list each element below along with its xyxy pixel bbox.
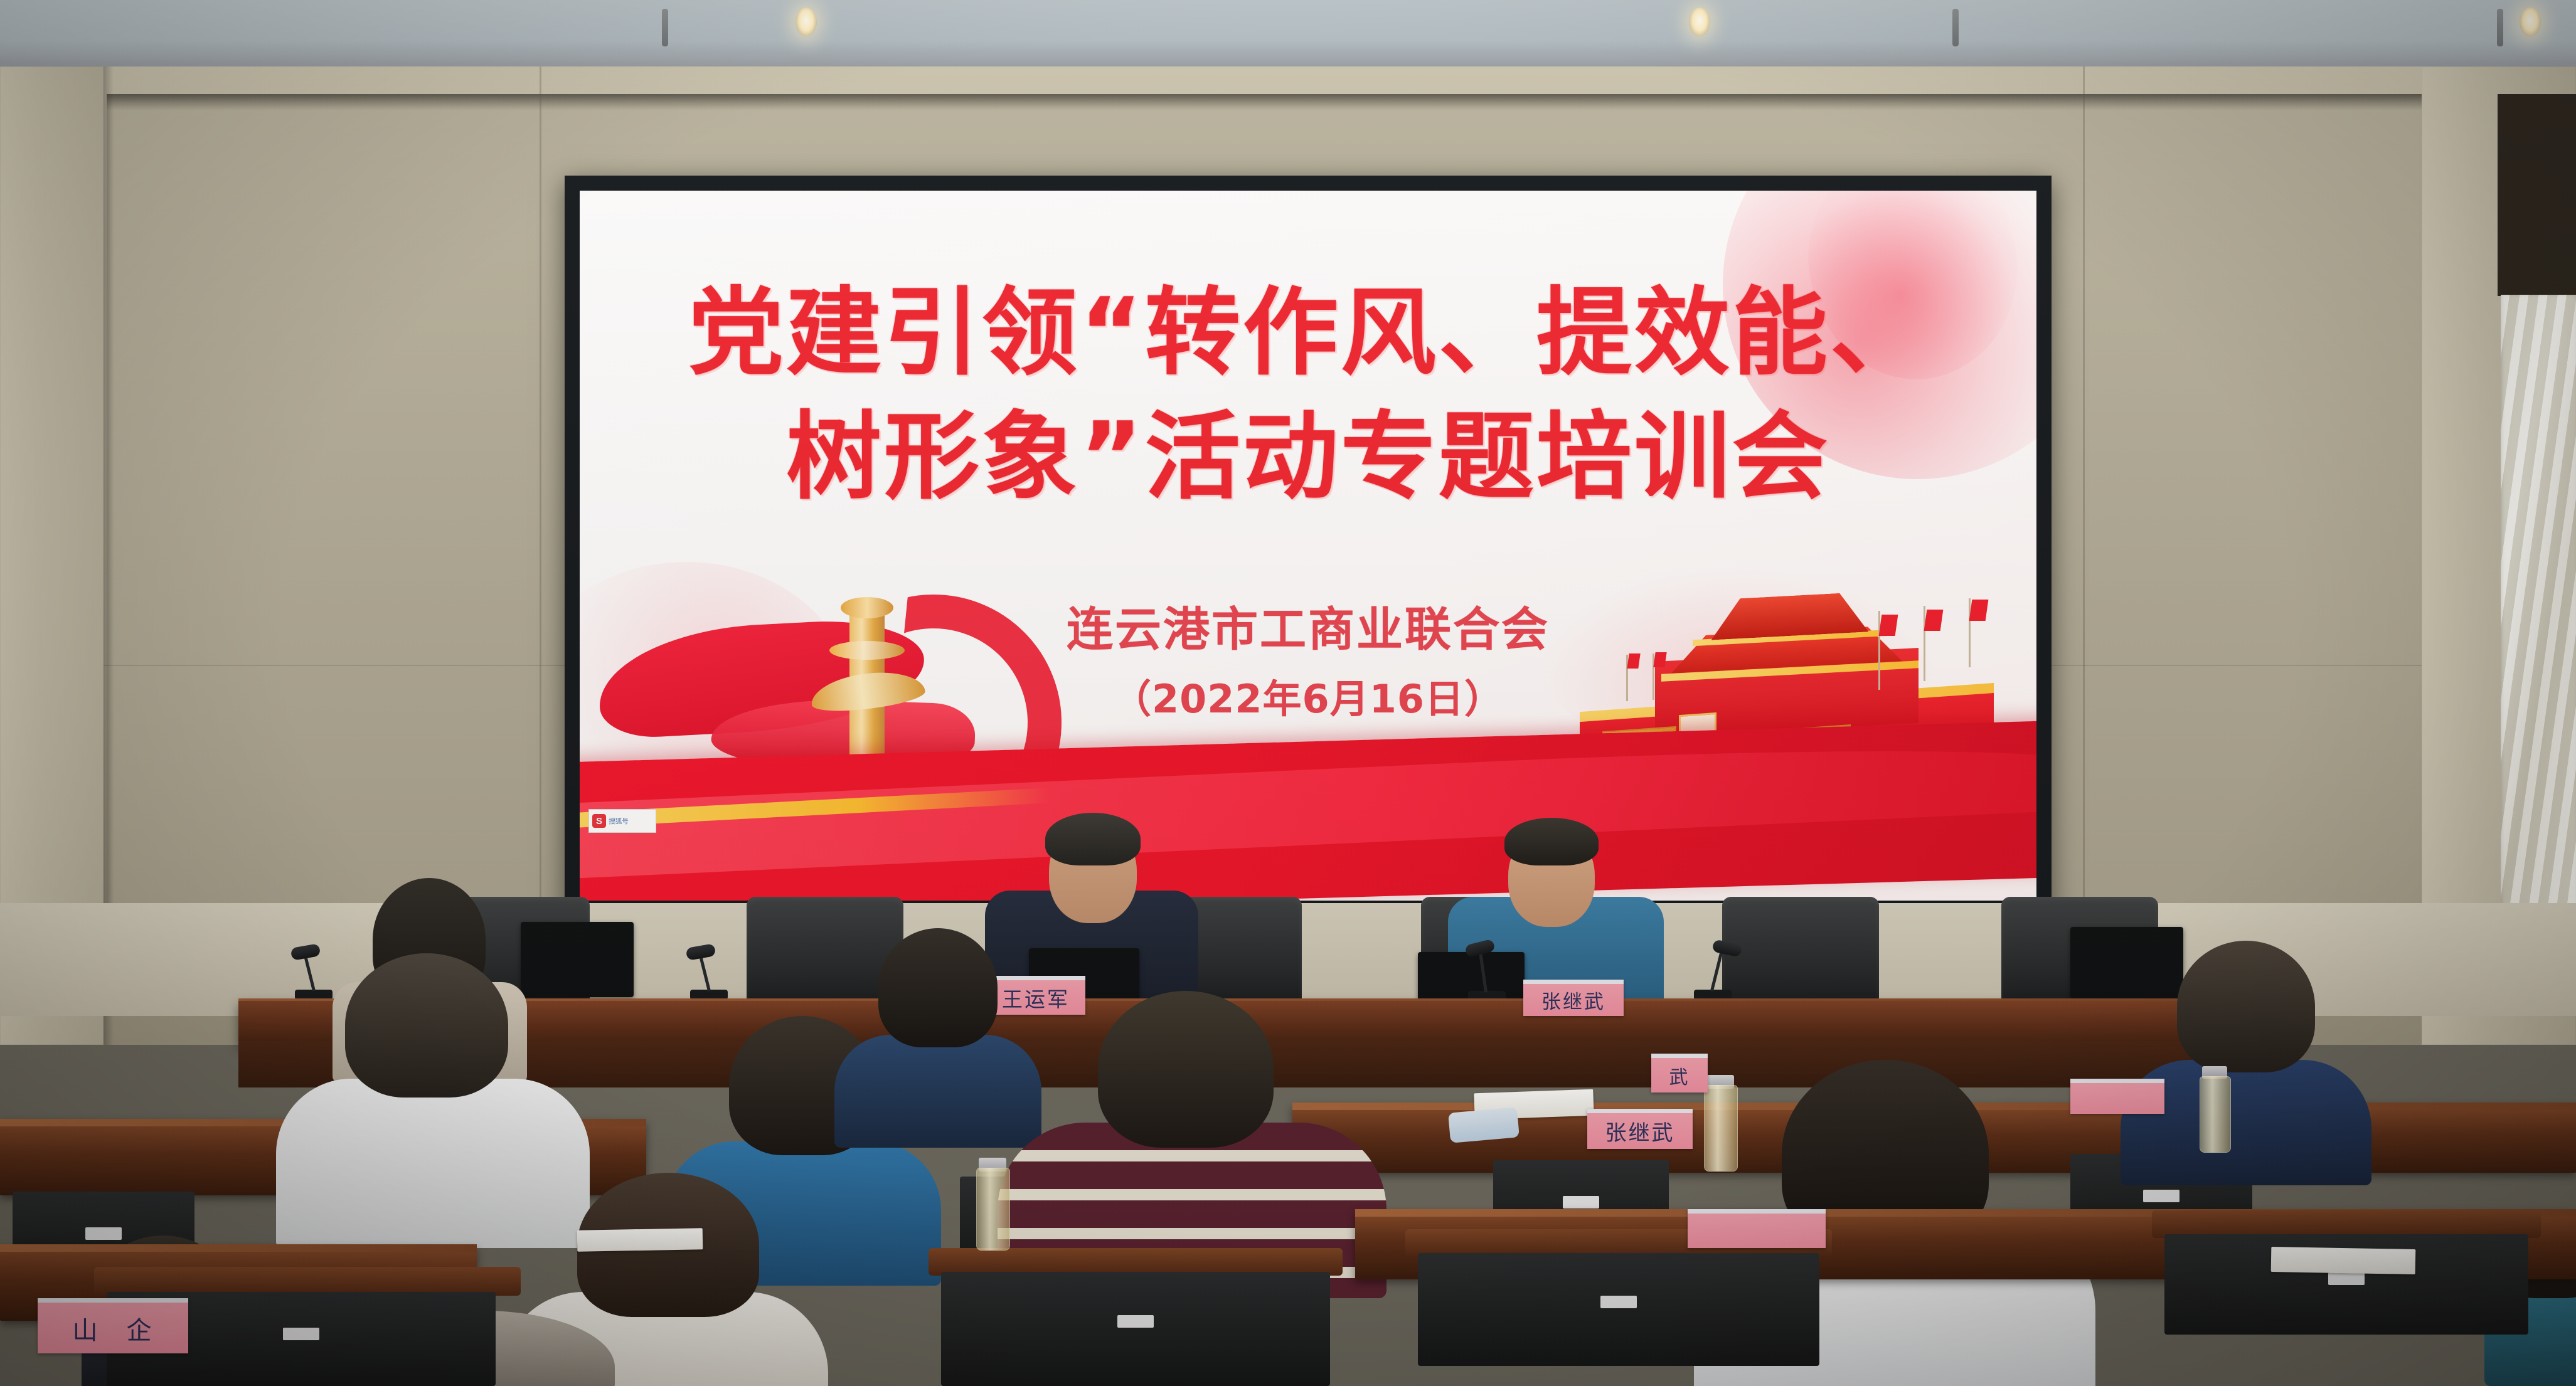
chair-brand-tag bbox=[1117, 1315, 1154, 1328]
slide-title: 党建引领“转作风、提效能、 树形象”活动专题培训会 bbox=[580, 271, 2036, 519]
huabiao-ring bbox=[829, 641, 905, 660]
watermark-badge: S 搜狐号 bbox=[588, 809, 656, 833]
window-header-dark bbox=[2498, 94, 2576, 296]
badge-text: 搜狐号 bbox=[609, 816, 629, 826]
chair-brand-tag bbox=[2328, 1272, 2365, 1285]
tiananmen-flag bbox=[1627, 653, 1640, 669]
nameplate-audience-extra bbox=[2070, 1079, 2164, 1114]
slide-title-line-1: 党建引领“转作风、提效能、 bbox=[580, 271, 2036, 395]
tiananmen-flag bbox=[1969, 600, 1989, 621]
chair-brand-tag bbox=[1600, 1296, 1637, 1308]
wall-pilaster-left-shadow bbox=[104, 66, 114, 1045]
chair-brand-tag bbox=[2143, 1190, 2179, 1202]
desk-paper bbox=[2271, 1247, 2416, 1274]
wall-recess-shadow bbox=[107, 94, 2428, 110]
attendee-hair bbox=[878, 928, 998, 1047]
huabiao-cap bbox=[841, 597, 893, 618]
slide-title-line-2: 树形象”活动专题培训会 bbox=[580, 395, 2036, 519]
audience-desk-top bbox=[0, 1244, 477, 1252]
speaker-right-hair bbox=[1504, 818, 1599, 865]
nameplate-audience-center-text: 张继武 bbox=[1605, 1116, 1675, 1146]
led-screen: 党建引领“转作风、提效能、 树形象”活动专题培训会 连云港市工商业联合会 （20… bbox=[580, 191, 2036, 901]
nameplate-audience-extra bbox=[1688, 1209, 1826, 1248]
nameplate-audience-front-left: 山 企 bbox=[38, 1298, 188, 1353]
conference-photo: 党建引领“转作风、提效能、 树形象”活动专题培训会 连云港市工商业联合会 （20… bbox=[0, 0, 2576, 1386]
attendee-hair bbox=[2177, 941, 2315, 1072]
speaker-left-hair bbox=[1045, 813, 1141, 865]
window-curtain bbox=[2501, 295, 2576, 909]
chair-brand-tag bbox=[283, 1328, 319, 1340]
audience-chair bbox=[1418, 1253, 1819, 1366]
ceiling-downlight bbox=[1689, 8, 1710, 36]
tiananmen-flag bbox=[1879, 615, 1898, 636]
nameplate-audience-center: 张继武 bbox=[1587, 1109, 1693, 1149]
nameplate-audience-right-edge: 武 bbox=[1651, 1054, 1708, 1092]
nameplate-audience-right-text: 武 bbox=[1669, 1062, 1690, 1089]
chair-brand-tag bbox=[1563, 1196, 1599, 1209]
face-mask bbox=[1448, 1107, 1520, 1143]
ceiling-downlight bbox=[796, 8, 817, 36]
tiananmen-flagpole bbox=[1924, 606, 1925, 681]
badge-mark: S bbox=[592, 814, 606, 828]
tiananmen-flag bbox=[1924, 610, 1944, 631]
audience-chair bbox=[941, 1272, 1330, 1386]
ceiling-sprinkler bbox=[2497, 9, 2503, 46]
wall-pilaster-left bbox=[0, 66, 104, 1045]
ceiling-sprinkler bbox=[662, 9, 668, 46]
led-screen-bezel: 党建引领“转作风、提效能、 树形象”活动专题培训会 连云港市工商业联合会 （20… bbox=[565, 176, 2052, 916]
attendee-navy-polo-right bbox=[2121, 941, 2371, 1179]
attendee-hair bbox=[1098, 991, 1274, 1148]
water-bottle bbox=[976, 1168, 1010, 1251]
nameplate-speaker-right: 张继武 bbox=[1523, 980, 1624, 1016]
tiananmen-flag bbox=[1653, 652, 1666, 667]
nameplate-audience-left-text: 山 企 bbox=[73, 1310, 154, 1346]
head-table-chair bbox=[1722, 897, 1879, 1003]
curtain-folds bbox=[2501, 295, 2576, 909]
ceiling-downlight bbox=[2520, 8, 2541, 36]
attendee-striped-polo bbox=[998, 991, 1386, 1292]
ceiling-sprinkler bbox=[1952, 9, 1959, 46]
water-bottle bbox=[1704, 1085, 1738, 1172]
nameplate-right-text: 张继武 bbox=[1541, 986, 1605, 1014]
desk-paper bbox=[577, 1228, 703, 1251]
ceiling bbox=[0, 0, 2576, 74]
water-bottle bbox=[2200, 1076, 2231, 1153]
attendee-hair bbox=[345, 953, 508, 1098]
